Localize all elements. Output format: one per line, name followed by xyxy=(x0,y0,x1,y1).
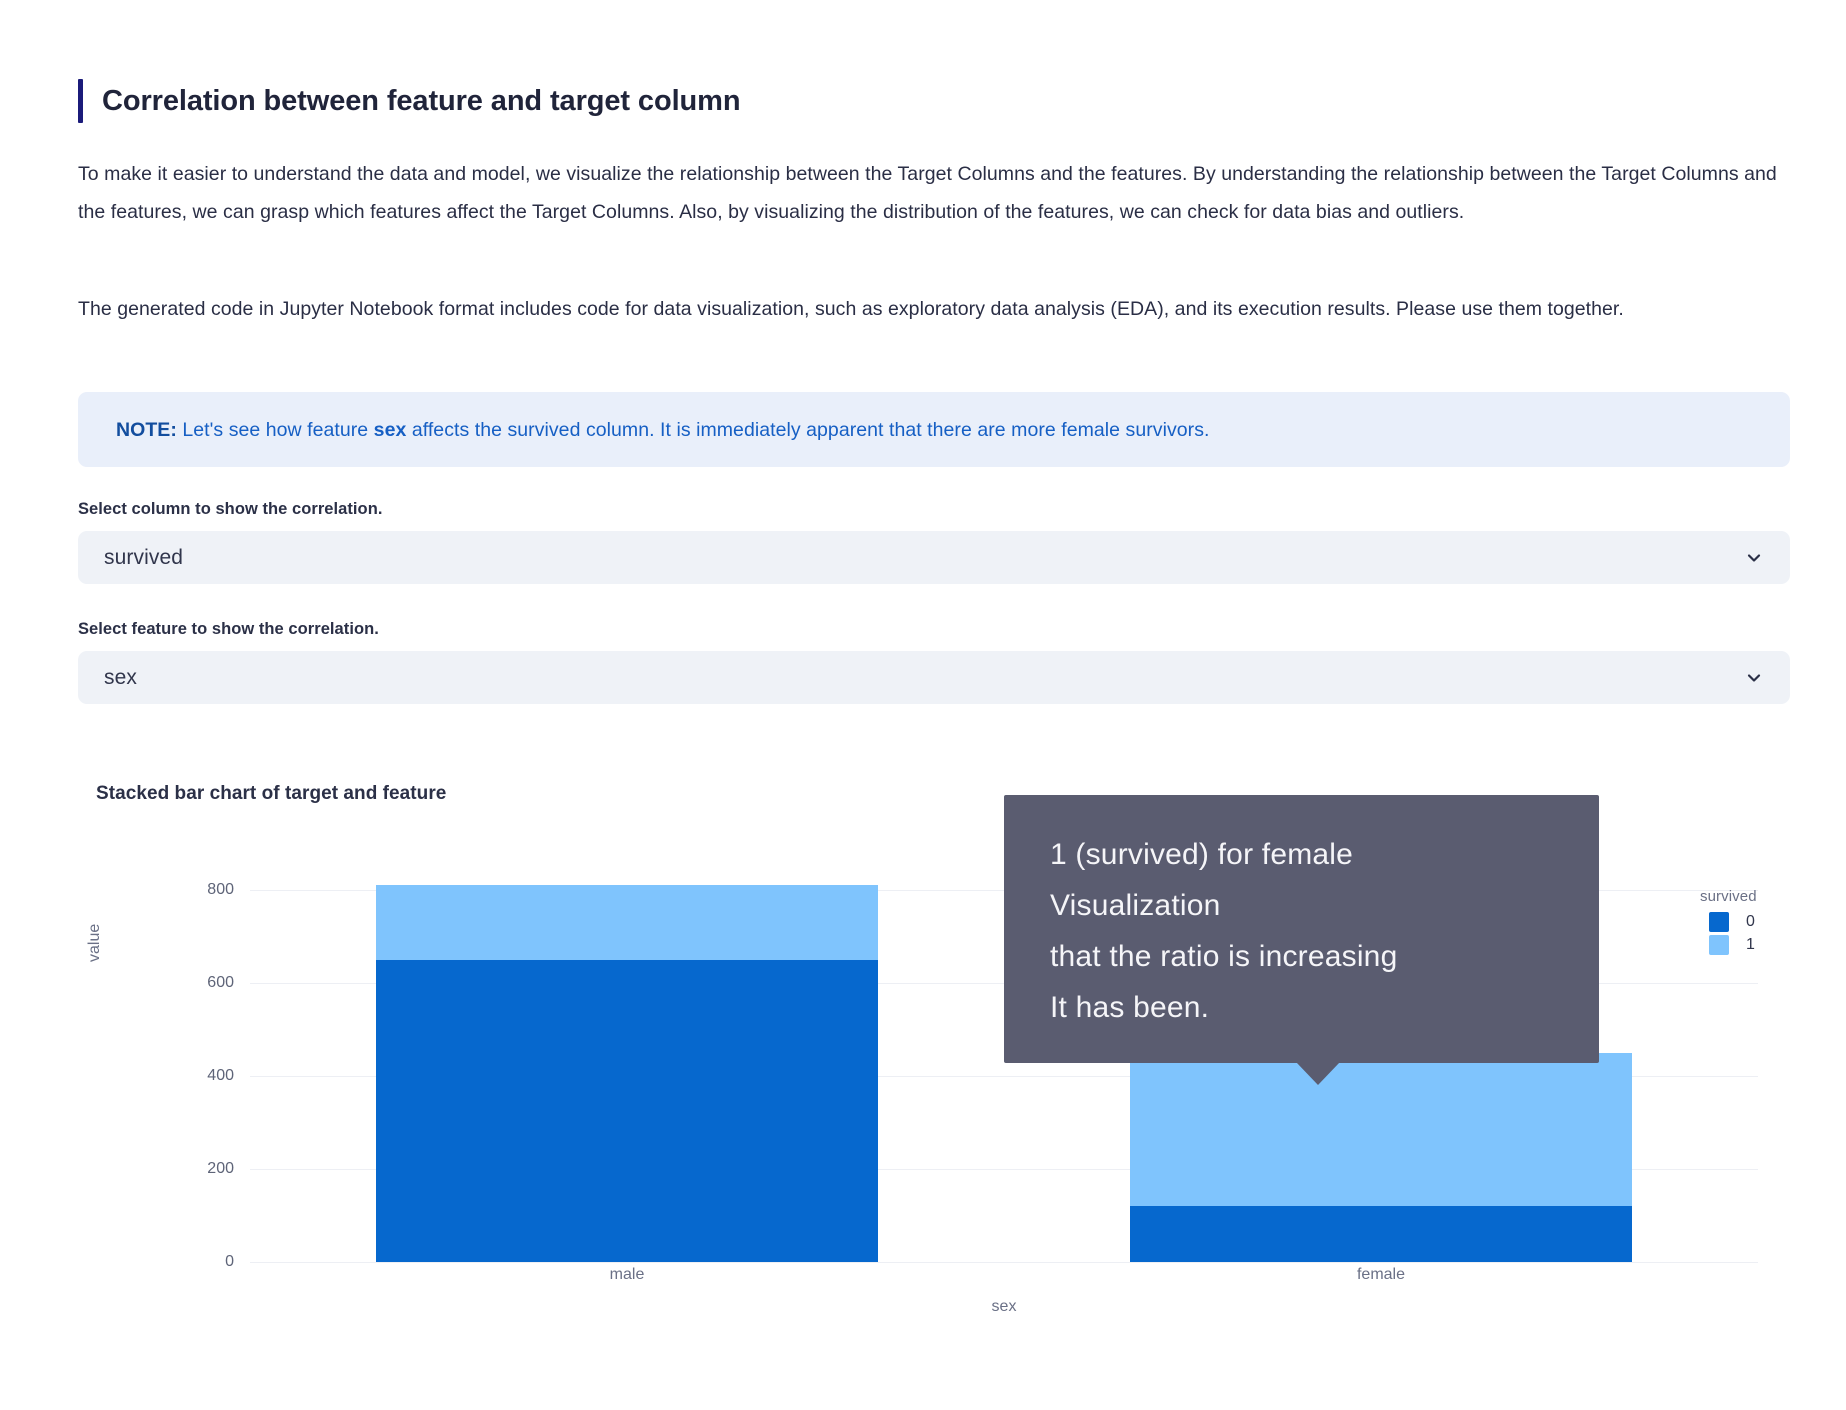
note-text-before: Let's see how feature xyxy=(177,419,374,441)
note-emphasis: sex xyxy=(374,419,407,441)
chart-x-axis-label: sex xyxy=(992,1298,1017,1316)
chart-x-tick: male xyxy=(610,1266,645,1284)
column-select-value: survived xyxy=(78,546,183,570)
chart-gridline xyxy=(250,1262,1758,1263)
intro-paragraph-1: To make it easier to understand the data… xyxy=(78,155,1790,231)
note-callout-text: NOTE: Let's see how feature sex affects … xyxy=(78,415,1209,445)
legend-item[interactable]: 0 xyxy=(1709,912,1757,932)
chart-title: Stacked bar chart of target and feature xyxy=(96,783,446,805)
legend-swatch xyxy=(1709,935,1729,955)
feature-select-label: Select feature to show the correlation. xyxy=(78,620,379,639)
column-select[interactable]: survived xyxy=(78,531,1790,584)
chart-y-tick: 600 xyxy=(207,974,234,992)
heading-accent-bar xyxy=(78,79,83,123)
chart-bar-segment[interactable] xyxy=(1130,1206,1631,1262)
chart-legend: survived 01 xyxy=(1700,888,1757,955)
tooltip-pointer xyxy=(1296,1062,1340,1085)
chart-y-tick: 0 xyxy=(225,1253,234,1271)
legend-swatch xyxy=(1709,912,1729,932)
chart-tooltip: 1 (survived) for female Visualization th… xyxy=(1004,795,1599,1063)
feature-select[interactable]: sex xyxy=(78,651,1790,704)
legend-item[interactable]: 1 xyxy=(1709,935,1757,955)
chart-bar[interactable] xyxy=(376,885,877,1262)
legend-label: 1 xyxy=(1746,936,1755,954)
note-prefix: NOTE: xyxy=(116,419,177,441)
chevron-down-icon xyxy=(1744,548,1790,568)
chart-tooltip-text: 1 (survived) for female Visualization th… xyxy=(1004,829,1599,1033)
chevron-down-icon xyxy=(1744,668,1790,688)
note-text-after: affects the survived column. It is immed… xyxy=(406,419,1209,441)
page-root: Correlation between feature and target c… xyxy=(0,0,1846,1410)
column-select-label: Select column to show the correlation. xyxy=(78,500,382,519)
legend-items: 01 xyxy=(1700,912,1757,955)
page-heading: Correlation between feature and target c… xyxy=(78,78,1790,124)
chart-bar-segment[interactable] xyxy=(376,885,877,959)
legend-label: 0 xyxy=(1746,913,1755,931)
intro-paragraph-2: The generated code in Jupyter Notebook f… xyxy=(78,290,1790,328)
legend-title: survived xyxy=(1700,888,1757,905)
chart-y-tick: 200 xyxy=(207,1160,234,1178)
chart-bar-segment[interactable] xyxy=(1130,1053,1631,1206)
chart-bar[interactable] xyxy=(1130,1053,1631,1262)
chart-y-tick: 800 xyxy=(207,881,234,899)
chart-bar-segment[interactable] xyxy=(376,960,877,1262)
chart-y-tick: 400 xyxy=(207,1067,234,1085)
feature-select-value: sex xyxy=(78,666,137,690)
chart-x-tick: female xyxy=(1357,1266,1405,1284)
note-callout: NOTE: Let's see how feature sex affects … xyxy=(78,392,1790,467)
page-title: Correlation between feature and target c… xyxy=(102,79,740,123)
